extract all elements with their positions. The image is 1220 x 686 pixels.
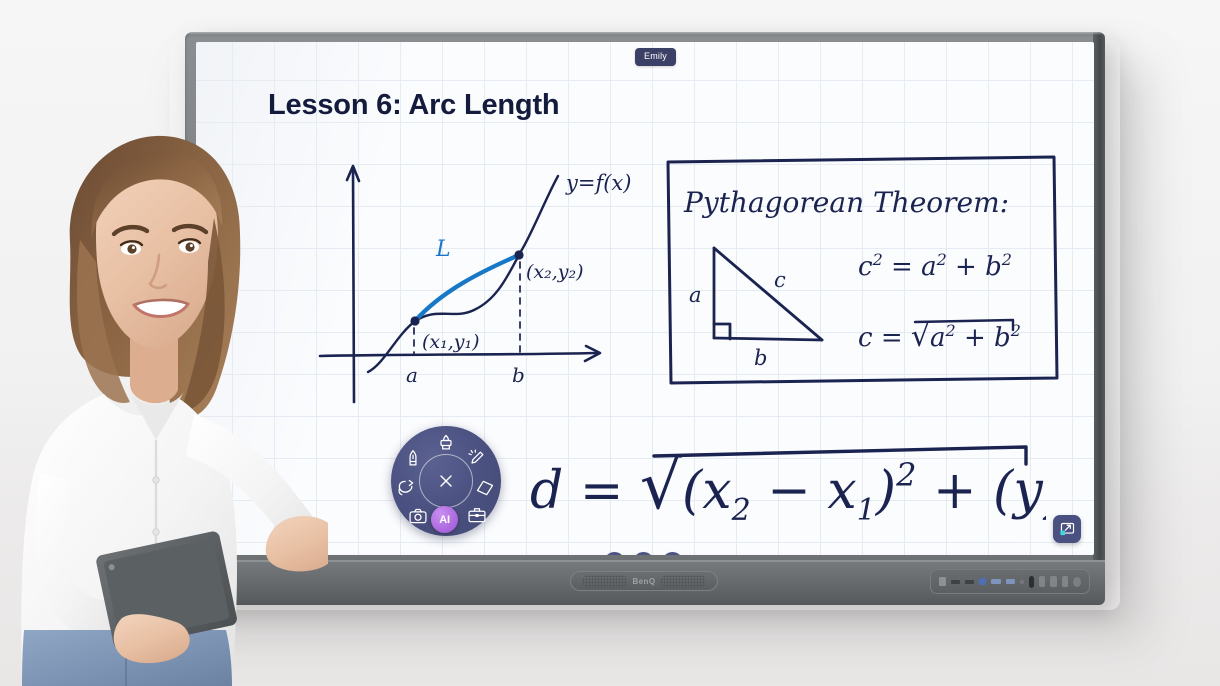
point-2-label: (x₂,y₂) (526, 261, 584, 283)
brand-logo: BenQ (633, 577, 656, 586)
arc-length-label: L (435, 237, 451, 262)
triangle-label-b: b (754, 346, 767, 370)
distance-formula-text: d = √(x2 − x1)2 + (y2− y1)2 (530, 447, 1046, 528)
pen-icon[interactable] (403, 449, 423, 469)
equation-1: c2 = a2 + b2 (858, 250, 1012, 282)
camera-icon[interactable] (408, 506, 428, 526)
hdmi-port-1 (991, 579, 1000, 584)
grille-mesh-left (582, 575, 628, 588)
screen-cast-button[interactable] (1053, 515, 1081, 543)
whiteboard-screen[interactable]: Emily Lesson 6: Arc Length (196, 42, 1094, 555)
io-slot-2 (965, 580, 974, 584)
x-tick-a: a (406, 363, 418, 387)
eraser-icon[interactable] (475, 478, 495, 498)
io-chip (939, 577, 946, 586)
triangle-label-a: a (689, 283, 702, 307)
ai-pill-button[interactable]: AI (604, 552, 625, 555)
user-name-tab[interactable]: Emily (635, 48, 676, 66)
close-icon[interactable] (436, 471, 456, 491)
distance-formula: d = √(x2 − x1)2 + (y2− y1)2 (526, 422, 1046, 547)
triangle-label-c: c (774, 268, 786, 292)
io-port-panel[interactable] (930, 569, 1090, 594)
highlighter-icon[interactable] (467, 448, 487, 468)
arc-length-graph: y=f(x) (x₁,y₁) (x₂,y₂) a b L (314, 150, 654, 410)
x-tick-b: b (512, 363, 525, 387)
marker-icon[interactable] (436, 433, 456, 453)
equation-2: c = √a2 + b2 (858, 319, 1021, 354)
radial-tool-menu[interactable]: AI (391, 426, 501, 536)
page-title: Lesson 6: Arc Length (268, 89, 559, 122)
curve-label: y=f(x) (565, 171, 631, 195)
status-led (1020, 580, 1023, 584)
pythagorean-theorem-box: a b c Pythagorean Theorem: c2 = a2 + b2 … (662, 150, 1062, 390)
io-slot-1 (951, 580, 960, 584)
ai-tool-button[interactable]: AI (431, 506, 458, 533)
grille-mesh-right (660, 575, 706, 588)
teacher-photo (18, 122, 328, 686)
display-right-bezel (1093, 32, 1105, 563)
hdmi-port-2 (1006, 579, 1015, 584)
expand-pill-button[interactable] (633, 552, 654, 555)
pythagorean-heading: Pythagorean Theorem: (683, 186, 1009, 219)
lasso-icon[interactable] (396, 478, 416, 498)
power-button[interactable] (1029, 576, 1035, 588)
control-button-3[interactable] (1062, 576, 1068, 587)
ir-sensor (1073, 577, 1081, 587)
cast-icon (1059, 521, 1076, 538)
floating-pill-toolbar[interactable]: AI (604, 552, 683, 555)
usb-port (979, 578, 987, 585)
point-1-label: (x₁,y₁) (422, 331, 480, 353)
close-pill-button[interactable] (662, 552, 683, 555)
control-button-1[interactable] (1039, 576, 1045, 587)
toolbox-icon[interactable] (467, 505, 487, 525)
control-button-2[interactable] (1050, 576, 1056, 587)
room-scene: Emily Lesson 6: Arc Length (0, 0, 1220, 686)
speaker-grille: BenQ (570, 571, 718, 591)
